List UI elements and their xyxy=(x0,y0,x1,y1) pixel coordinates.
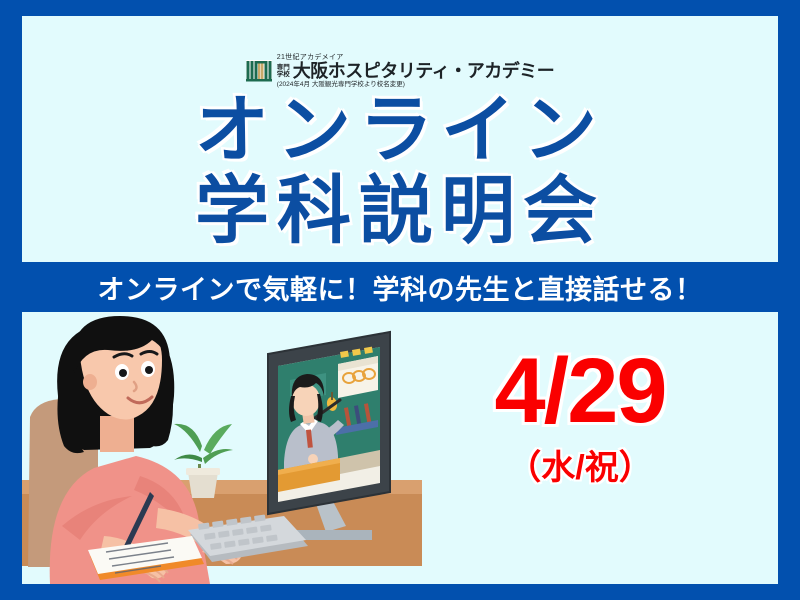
logo-school-type-tag: 専門 学校 xyxy=(277,64,290,79)
subtitle-banner: オンラインで気軽に！学科の先生と直接話せる！ xyxy=(0,262,800,312)
logo-text-block: 21世紀アカデメイア 専門 学校 大阪ホスピタリティ・アカデミー (2024年4… xyxy=(277,54,554,89)
logo-rename-note: (2024年4月 大阪観光専門学校より校名変更) xyxy=(277,82,554,89)
event-date-weekday: （水/祝） xyxy=(420,451,740,485)
school-logo: 21世紀アカデメイア 専門 学校 大阪ホスピタリティ・アカデミー (2024年4… xyxy=(0,54,800,89)
logo-tag-line-1: 専門 xyxy=(277,64,290,71)
headline-line-2: 学科説明会 xyxy=(0,173,800,248)
page-title: オンライン 学科説明会 xyxy=(0,92,800,249)
headline-line-1: オンライン xyxy=(0,92,800,167)
illustration-canvas xyxy=(22,312,422,584)
logo-school-name: 大阪ホスピタリティ・アカデミー xyxy=(293,62,554,80)
logo-tag-line-2: 学校 xyxy=(277,71,290,78)
logo-kicker: 21世紀アカデメイア xyxy=(277,54,554,61)
event-date: 4/29 （水/祝） xyxy=(420,345,740,485)
event-date-main: 4/29 xyxy=(420,345,740,437)
academy-pillars-emblem-icon xyxy=(246,58,272,83)
subtitle-banner-text: オンラインで気軽に！学科の先生と直接話せる！ xyxy=(98,268,703,307)
student-online-class-illustration xyxy=(22,312,422,584)
logo-main-line: 専門 学校 大阪ホスピタリティ・アカデミー xyxy=(277,62,554,80)
poster-root: 21世紀アカデメイア 専門 学校 大阪ホスピタリティ・アカデミー (2024年4… xyxy=(0,0,800,600)
